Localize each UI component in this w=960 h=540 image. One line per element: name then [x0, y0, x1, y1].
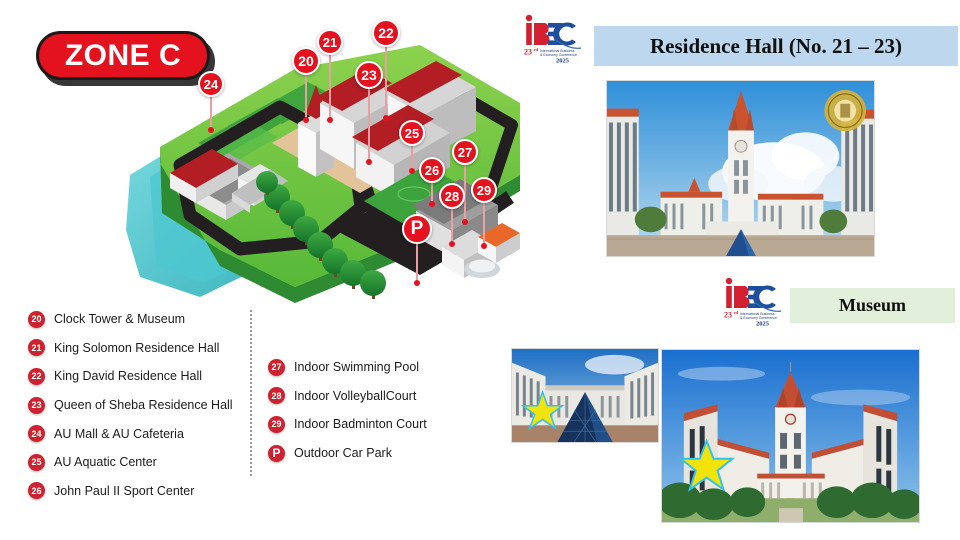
pin-stem — [385, 46, 387, 118]
pin-stem — [368, 88, 370, 162]
svg-text:2025: 2025 — [556, 58, 570, 65]
pin-stem — [483, 202, 485, 246]
map-pin-label: 21 — [317, 29, 343, 55]
legend-badge: 20 — [28, 311, 45, 328]
legend-badge: 23 — [28, 397, 45, 414]
legend-divider — [250, 310, 252, 476]
map-pin-label: 22 — [372, 19, 400, 47]
legend-badge: 26 — [28, 482, 45, 499]
map-pin-label: 29 — [471, 177, 497, 203]
clock-tower-plaza-image — [607, 81, 874, 256]
svg-text:2025: 2025 — [756, 321, 770, 328]
pin-stem — [329, 54, 331, 120]
legend-item[interactable]: 20 Clock Tower & Museum — [28, 305, 243, 334]
legend-badge: 24 — [28, 425, 45, 442]
ibec-logo-top: 23 rd International Business & Economy C… — [518, 9, 584, 65]
legend-item[interactable]: 28 Indoor VolleyballCourt — [268, 382, 483, 411]
legend-label: Outdoor Car Park — [294, 446, 392, 460]
banner-residence-hall: Residence Hall (No. 21 – 23) — [594, 26, 958, 66]
svg-text:& Economy Conference: & Economy Conference — [740, 316, 777, 320]
ibec-logo-mark: 23 rd International Business & Economy C… — [718, 272, 784, 328]
map-pin-label: 23 — [355, 61, 383, 89]
campus-clock-tower-image — [662, 350, 919, 522]
legend-label: Indoor VolleyballCourt — [294, 389, 416, 403]
pin-stem — [431, 182, 433, 204]
legend-label: Queen of Sheba Residence Hall — [54, 398, 233, 412]
banner-museum-title: Museum — [839, 295, 906, 316]
map-pin-label: 28 — [439, 183, 465, 209]
photo-residence-hall — [606, 80, 875, 257]
legend-item[interactable]: P Outdoor Car Park — [268, 439, 483, 468]
map-pin-label: 26 — [419, 157, 445, 183]
campus-map[interactable]: 24 20 21 22 23 25 26 27 — [120, 25, 540, 305]
legend-badge: 21 — [28, 339, 45, 356]
legend-label: Indoor Swimming Pool — [294, 360, 419, 374]
map-pin-label: 20 — [292, 47, 320, 75]
legend-badge: 29 — [268, 416, 285, 433]
slide-root: ZONE C — [0, 0, 960, 540]
legend-badge-parking: P — [268, 445, 285, 462]
legend-item[interactable]: 29 Indoor Badminton Court — [268, 410, 483, 439]
legend-badge: 28 — [268, 387, 285, 404]
legend-label: Indoor Badminton Court — [294, 417, 427, 431]
svg-text:23: 23 — [724, 311, 732, 320]
svg-text:23: 23 — [524, 48, 532, 57]
glass-pyramid-image — [512, 349, 658, 442]
ibec-logo-museum: 23 rd International Business & Economy C… — [718, 272, 784, 328]
legend-badge: 25 — [28, 454, 45, 471]
legend-item[interactable]: 24 AU Mall & AU Cafeteria — [28, 419, 243, 448]
svg-text:rd: rd — [734, 310, 739, 315]
pin-stem — [305, 74, 307, 120]
legend-badge: 27 — [268, 359, 285, 376]
ibec-logo-mark: 23 rd International Business & Economy C… — [518, 9, 584, 65]
map-pin-label: 25 — [399, 120, 425, 146]
svg-text:rd: rd — [534, 47, 539, 52]
legend-label: King David Residence Hall — [54, 369, 202, 383]
university-seal-watermark — [824, 90, 866, 132]
legend-column-left: 20 Clock Tower & Museum 21 King Solomon … — [28, 305, 243, 505]
pin-stem — [416, 243, 418, 283]
photo-campus-clock-tower — [661, 349, 920, 523]
legend-label: AU Mall & AU Cafeteria — [54, 427, 184, 441]
legend-label: King Solomon Residence Hall — [54, 341, 219, 355]
legend-label: AU Aquatic Center — [54, 455, 157, 469]
legend-item[interactable]: 21 King Solomon Residence Hall — [28, 334, 243, 363]
svg-text:& Economy Conference: & Economy Conference — [540, 53, 577, 57]
pin-stem — [451, 208, 453, 244]
legend-badge: 22 — [28, 368, 45, 385]
pin-stem — [411, 145, 413, 171]
legend-item[interactable]: 22 King David Residence Hall — [28, 362, 243, 391]
map-pin-label: 27 — [452, 139, 478, 165]
banner-residence-title: Residence Hall (No. 21 – 23) — [650, 34, 902, 59]
legend-item[interactable]: 23 Queen of Sheba Residence Hall — [28, 391, 243, 420]
map-pin-label: P — [402, 214, 432, 244]
legend-item[interactable]: 26 John Paul II Sport Center — [28, 477, 243, 506]
legend-item[interactable]: 27 Indoor Swimming Pool — [268, 353, 483, 382]
legend-label: Clock Tower & Museum — [54, 312, 185, 326]
legend-column-right: 27 Indoor Swimming Pool 28 Indoor Volley… — [268, 353, 483, 467]
legend-label: John Paul II Sport Center — [54, 484, 194, 498]
banner-museum: Museum — [790, 288, 955, 323]
photo-glass-pyramid — [511, 348, 659, 443]
map-pin-label: 24 — [198, 71, 224, 97]
pin-stem — [210, 96, 212, 130]
legend-item[interactable]: 25 AU Aquatic Center — [28, 448, 243, 477]
